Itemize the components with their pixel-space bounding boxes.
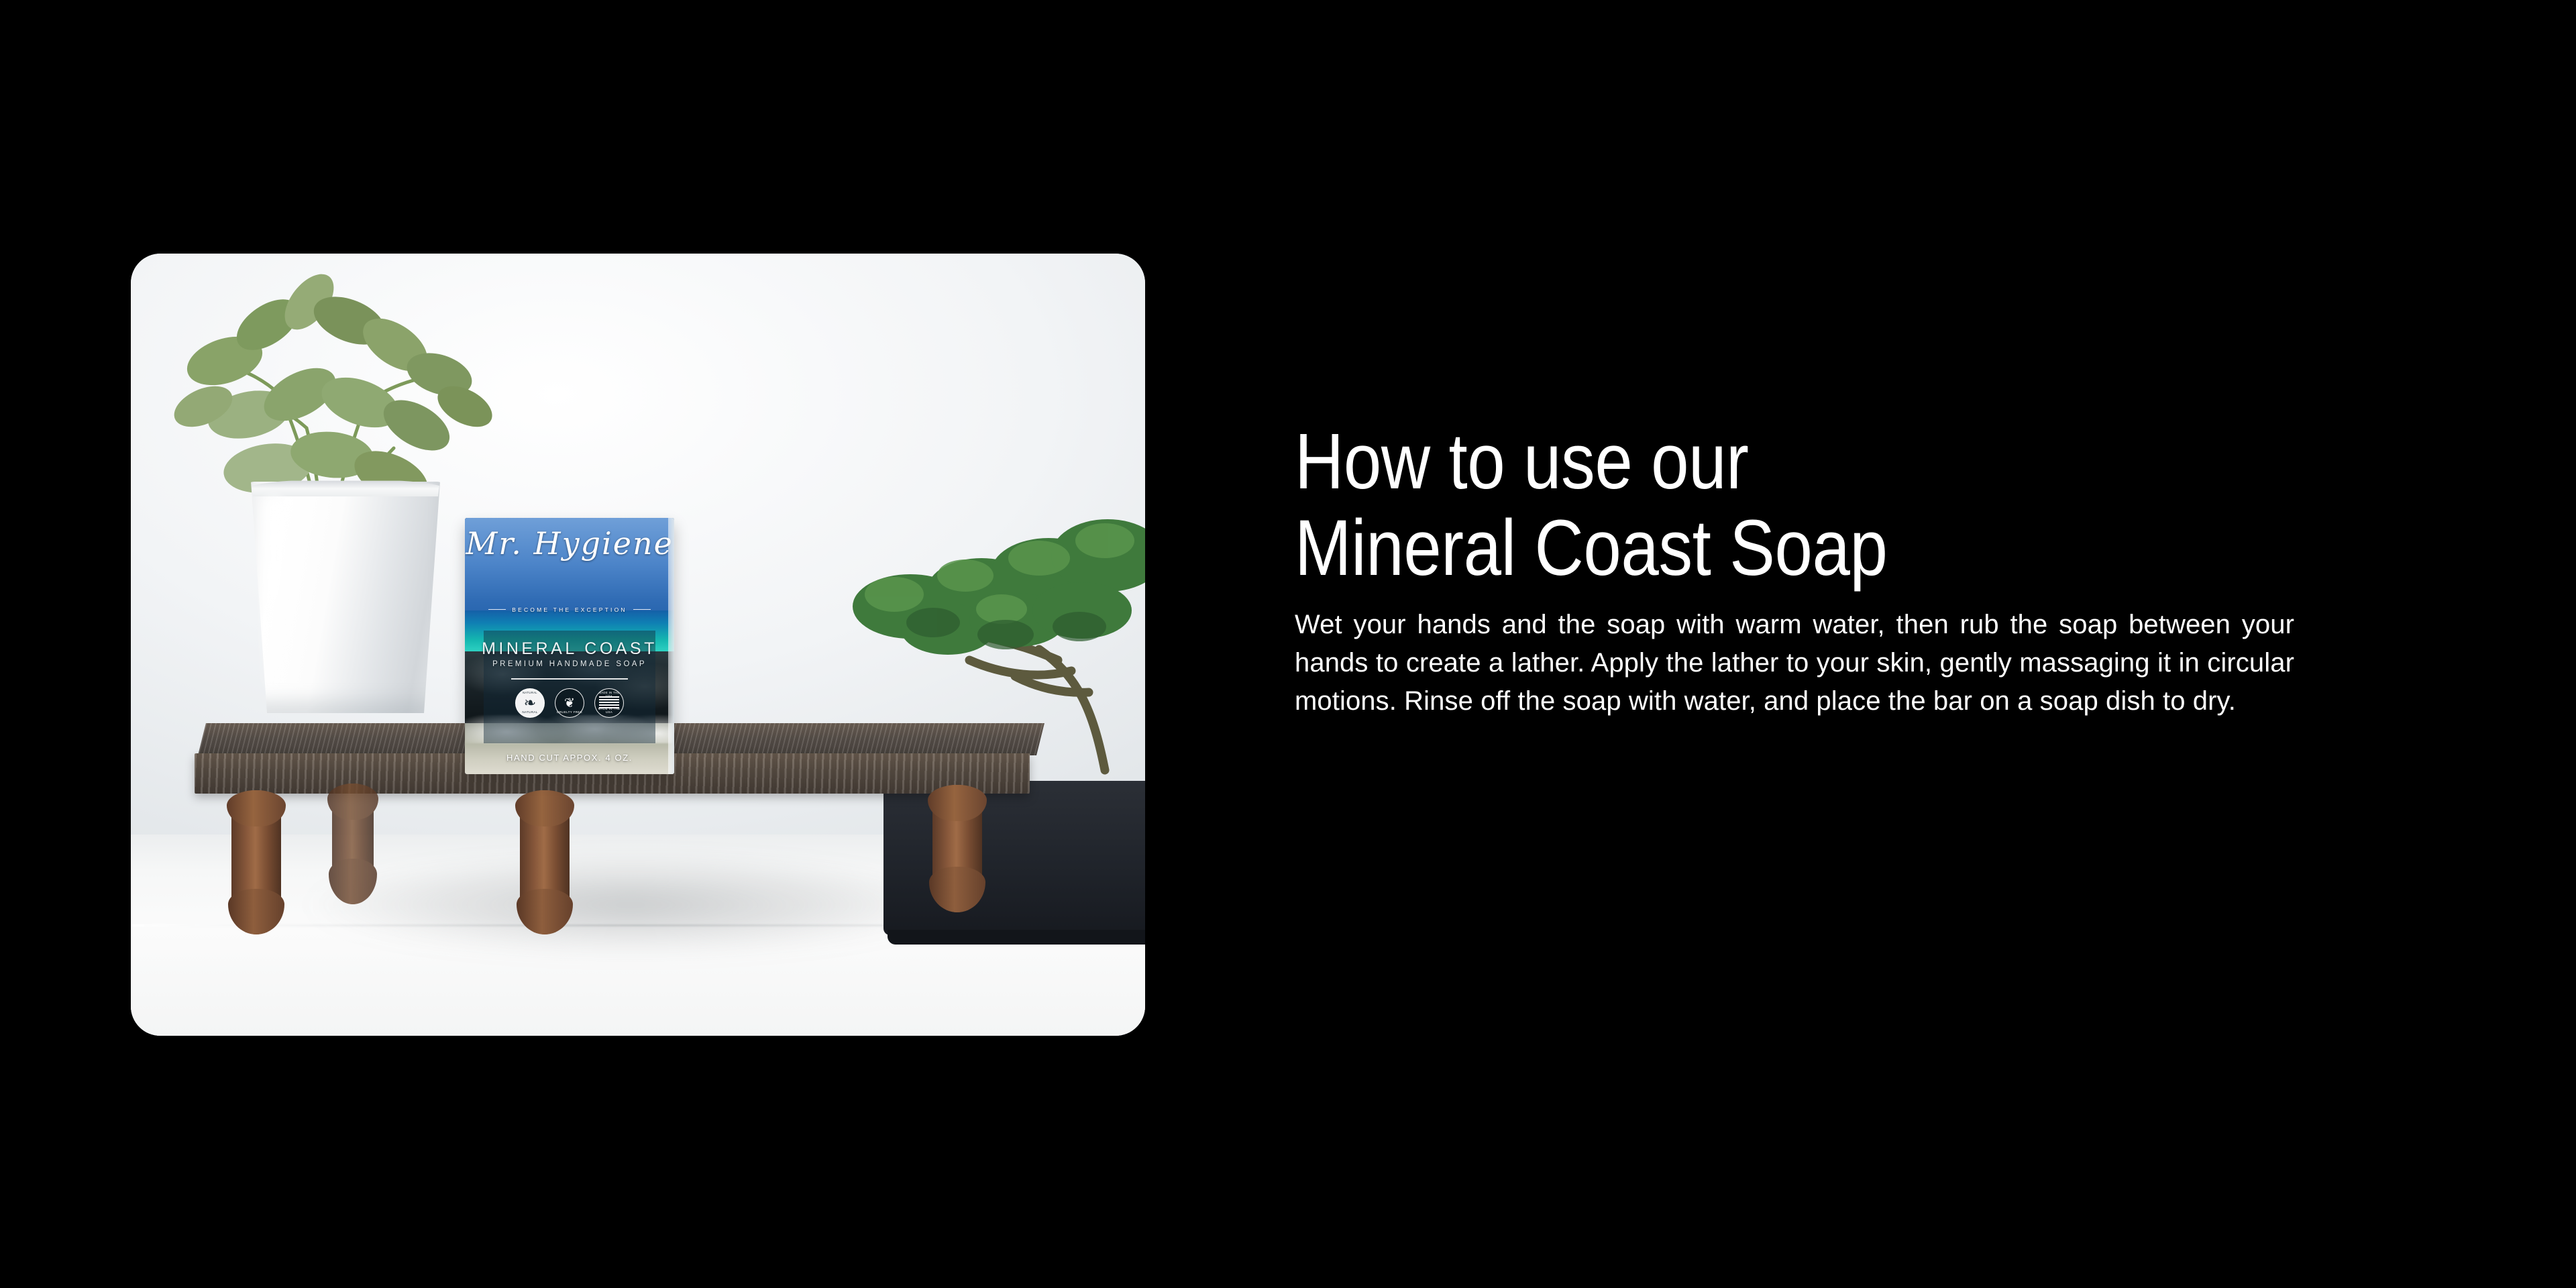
soap-tagline: BECOME THE EXCEPTION — [512, 606, 627, 613]
natural-badge-bottom-text: NATURAL — [516, 711, 544, 714]
page-root: Mr. Hygiene BECOME THE EXCEPTION MINERAL… — [0, 0, 2576, 1288]
product-photo-scene: Mr. Hygiene BECOME THE EXCEPTION MINERAL… — [131, 254, 1145, 1036]
stand-leg-mid — [520, 790, 570, 934]
usage-instructions: Wet your hands and the soap with warm wa… — [1295, 606, 2294, 720]
soap-product-name: MINERAL COAST — [465, 639, 674, 659]
leaf-icon: ❧ — [524, 696, 536, 710]
tagline-dash-right — [633, 609, 651, 610]
soap-box-package: Mr. Hygiene BECOME THE EXCEPTION MINERAL… — [465, 518, 674, 774]
product-photo: Mr. Hygiene BECOME THE EXCEPTION MINERAL… — [131, 254, 1145, 1036]
pot-rim — [245, 479, 446, 496]
stand-leg-back-left — [332, 784, 374, 904]
usa-badge-bottom-text: MADE IN THE USA — [595, 708, 623, 714]
soap-brand-name: Mr. Hygiene — [465, 528, 674, 559]
cruelty-free-badge-text: CRUELTY FREE — [555, 711, 584, 714]
heading-line-2: Mineral Coast Soap — [1295, 505, 2154, 592]
soap-product-subtitle: PREMIUM HANDMADE SOAP — [465, 660, 674, 668]
stand-leg-front-left — [231, 790, 281, 934]
soap-box-side-edge — [668, 518, 674, 774]
copy-block: How to use our Mineral Coast Soap Wet yo… — [1295, 419, 2294, 720]
pot-highlight — [262, 496, 285, 691]
natural-leaf-badge-icon: NATURAL ❧ NATURAL — [515, 688, 545, 718]
usa-badge-top-text: MADE IN THE USA — [595, 691, 623, 698]
stand-leg-front-right — [932, 785, 982, 912]
soap-tagline-row: BECOME THE EXCEPTION — [465, 606, 674, 613]
heading-line-1: How to use our — [1295, 419, 2154, 505]
soap-weight-line: HAND CUT APPOX. 4 OZ. — [465, 753, 674, 763]
natural-badge-top-text: NATURAL — [516, 691, 544, 694]
made-in-usa-badge-icon: MADE IN THE USA MADE IN THE USA — [594, 688, 624, 718]
cruelty-free-badge-icon: ❦ CRUELTY FREE — [555, 688, 584, 718]
soap-badge-row: NATURAL ❧ NATURAL ❦ CRUELTY FREE MADE IN… — [465, 688, 674, 718]
dark-planter — [883, 781, 1145, 935]
tagline-dash-left — [488, 609, 506, 610]
page-title: How to use our Mineral Coast Soap — [1295, 419, 2154, 591]
soap-label-divider — [511, 678, 629, 680]
rabbit-icon: ❦ — [564, 697, 575, 710]
